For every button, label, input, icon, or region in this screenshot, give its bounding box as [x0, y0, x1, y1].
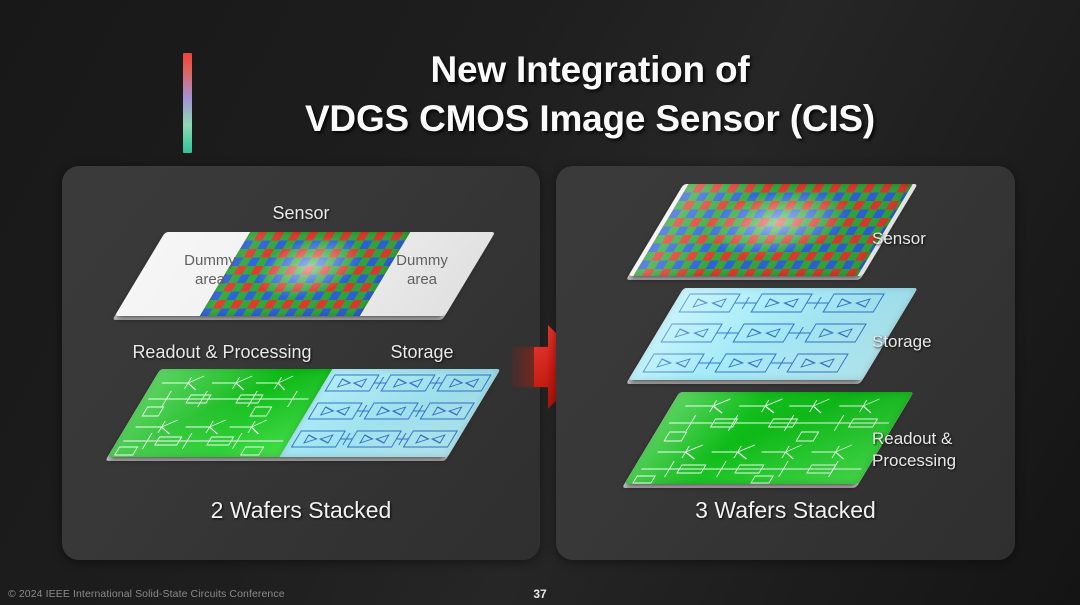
wafer-slab — [108, 369, 501, 457]
sensor-wafer-left: Dummy area Dummy area — [140, 232, 470, 316]
sensor-wafer-right — [656, 184, 890, 276]
panel-two-wafers: Sensor Dummy area Dummy area Readout & P… — [62, 166, 540, 560]
page-number: 37 — [0, 587, 1080, 601]
label-sensor-right: Sensor — [872, 228, 926, 250]
readout-wafer-right — [652, 392, 886, 484]
label-storage-right: Storage — [872, 331, 932, 353]
label-readout-processing-right: Readout & Processing — [872, 428, 956, 472]
logic-storage-wafer-left — [134, 369, 474, 457]
title-line-2: VDGS CMOS Image Sensor (CIS) — [200, 95, 980, 144]
dummy-area-label-left: Dummy area — [168, 252, 252, 290]
title-block: New Integration of VDGS CMOS Image Senso… — [0, 24, 1080, 134]
accent-gradient-bar — [183, 53, 192, 153]
storage-wafer-right — [656, 288, 890, 380]
label-sensor-left: Sensor — [62, 202, 540, 225]
caption-two-wafers-stacked: 2 Wafers Stacked — [62, 497, 540, 524]
label-readout-processing-left: Readout & Processing — [92, 341, 352, 364]
dummy-area-label-right: Dummy area — [380, 252, 464, 290]
bayer-pixel-array — [633, 184, 912, 276]
label-storage-left: Storage — [362, 341, 482, 364]
readout-circuit-art — [624, 392, 913, 484]
panel-three-wafers: Sensor — [556, 166, 1015, 560]
wafer-slab — [624, 392, 913, 484]
page-title: New Integration of VDGS CMOS Image Senso… — [200, 46, 980, 144]
caption-three-wafers-stacked: 3 Wafers Stacked — [556, 497, 1015, 524]
title-line-1: New Integration of — [200, 46, 980, 95]
readout-processing-die — [624, 392, 913, 484]
slide-canvas: New Integration of VDGS CMOS Image Senso… — [0, 0, 1080, 605]
